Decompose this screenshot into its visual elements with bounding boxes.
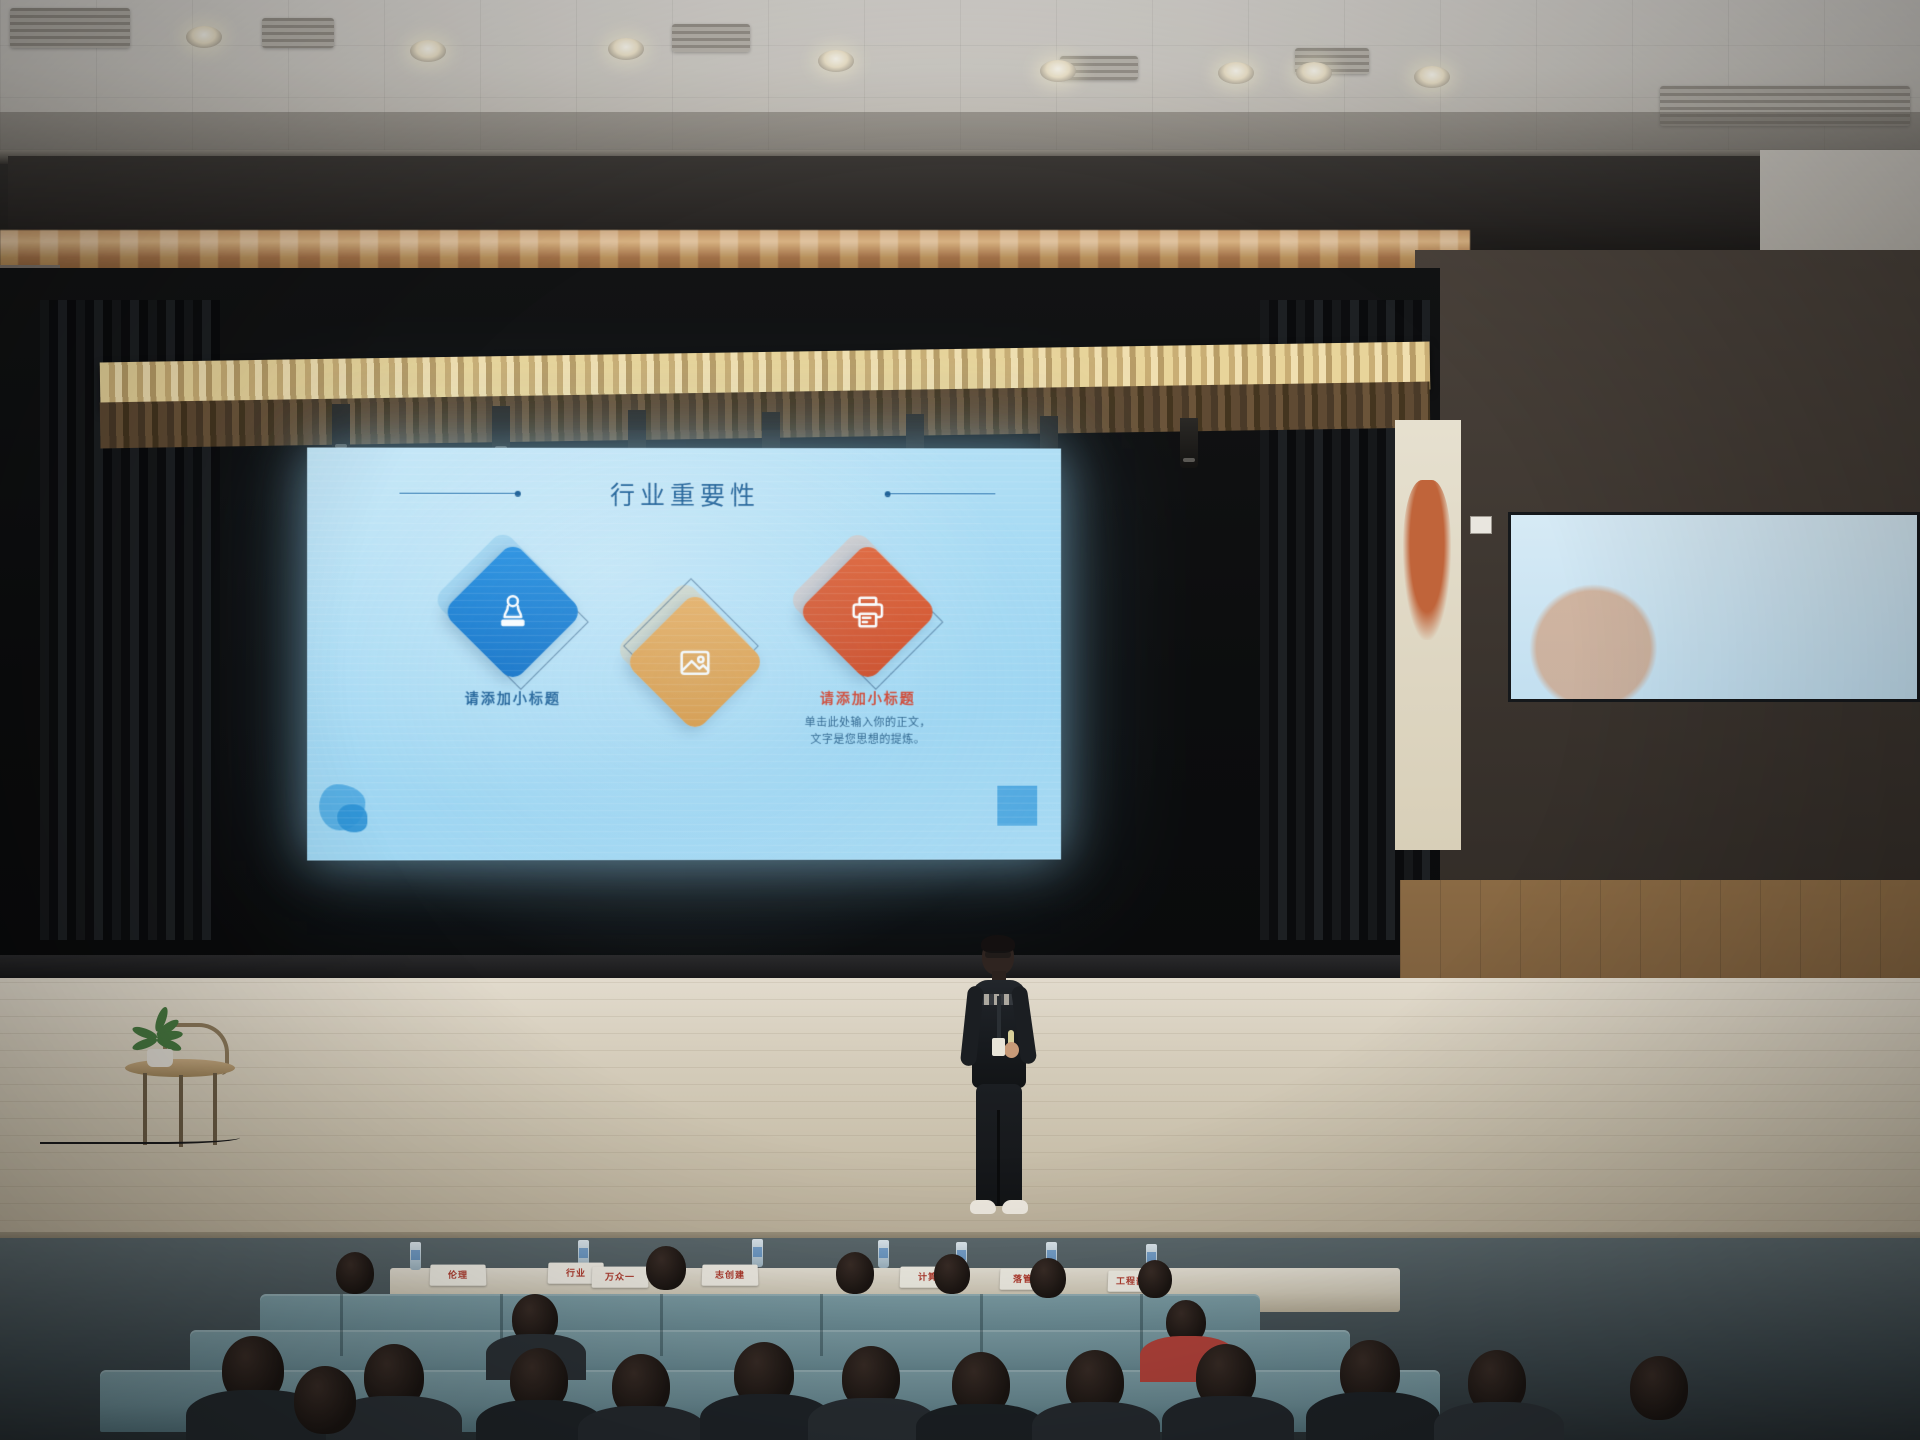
printer-icon <box>806 550 930 674</box>
ceiling-vent-3 <box>672 24 750 52</box>
audience-area: 伦理 行业 万众一 志创建 计算 落管理 工程部署 <box>0 1238 1920 1440</box>
auditorium-scene: 行业重要性 请添加小标题 <box>0 0 1920 1440</box>
image-icon <box>633 600 757 724</box>
diamond-3 <box>806 550 930 674</box>
speaker-legs <box>976 1084 1022 1206</box>
slide-cards: 请添加小标题 <box>307 544 1061 845</box>
nameplate-1: 伦理 <box>430 1265 487 1286</box>
slide-card-3-title: 请添加小标题 <box>758 688 977 708</box>
slide-card-3: 请添加小标题 单击此处输入你的正文， 文字是您思想的提炼。 <box>758 550 977 749</box>
seat-divider-1 <box>340 1294 343 1356</box>
potted-plant <box>131 1013 189 1067</box>
audience-shoulders <box>1434 1402 1564 1440</box>
seat-divider-5 <box>980 1294 983 1356</box>
downlight-6 <box>1218 62 1254 84</box>
audience-head <box>934 1254 970 1294</box>
mural-figure <box>1403 480 1451 640</box>
wall-control-panel <box>1470 516 1492 534</box>
slide-card-1: 请添加小标题 <box>418 550 608 715</box>
downlight-5 <box>1040 60 1076 82</box>
projection-screen: 行业重要性 请添加小标题 <box>307 447 1061 860</box>
slide-card-1-title: 请添加小标题 <box>418 688 608 708</box>
audience-head <box>646 1246 686 1290</box>
speaker-lanyard <box>997 996 1001 1042</box>
nameplate-4: 志创建 <box>702 1265 759 1286</box>
side-display <box>1508 512 1920 702</box>
lighting-batten-1 <box>332 404 350 454</box>
audience-head <box>836 1252 874 1294</box>
audience-shoulders <box>578 1406 706 1440</box>
nameplate-3: 万众一 <box>592 1267 649 1288</box>
speaker-shoe-right <box>1002 1200 1028 1214</box>
speaker-glasses <box>985 951 1011 958</box>
lighting-batten-7 <box>1180 418 1198 468</box>
ceiling-vent-2 <box>262 18 334 48</box>
speaker-badge <box>992 1038 1005 1056</box>
stamp-icon <box>451 550 575 674</box>
water-bottle-1 <box>410 1242 421 1270</box>
speaker-hand <box>1004 1042 1019 1058</box>
audience-shoulders <box>1032 1402 1160 1440</box>
speaker-person <box>952 938 1044 1238</box>
downlight-2 <box>410 40 446 62</box>
slide-card-3-body: 单击此处输入你的正文， 文字是您思想的提炼。 <box>758 715 977 749</box>
ceiling-vent-1 <box>10 8 130 48</box>
floor-cable <box>40 1128 240 1144</box>
audience-head <box>294 1366 356 1434</box>
water-bottle-3 <box>752 1239 763 1267</box>
speaker-shoe-left <box>970 1200 996 1214</box>
slide-title: 行业重要性 <box>307 476 1061 513</box>
diamond-1 <box>451 550 575 674</box>
downlight-1 <box>186 26 222 48</box>
downlight-4 <box>818 50 854 72</box>
audience-shoulders <box>1306 1392 1440 1440</box>
audience-head <box>1630 1356 1688 1420</box>
slide-card-3-body-line1: 单击此处输入你的正文， <box>758 715 977 732</box>
water-bottle-4 <box>878 1240 889 1268</box>
ceiling-dark-strip <box>0 112 1920 154</box>
side-display-content <box>1511 515 1920 702</box>
audience-shoulders <box>916 1404 1046 1440</box>
wall-mural <box>1395 420 1461 850</box>
seat-divider-3 <box>660 1294 663 1356</box>
audience-head <box>336 1252 374 1294</box>
audience-shoulders <box>1162 1396 1294 1440</box>
ceiling <box>0 0 1920 150</box>
audience-head <box>1138 1260 1172 1298</box>
slide-card-3-body-line2: 文字是您思想的提炼。 <box>758 732 977 749</box>
downlight-7 <box>1296 62 1332 84</box>
downlight-3 <box>608 38 644 60</box>
downlight-8 <box>1414 66 1450 88</box>
audience-head <box>1030 1258 1066 1298</box>
seat-divider-4 <box>820 1294 823 1356</box>
plant-pot <box>147 1049 173 1067</box>
diamond-2 <box>633 600 757 724</box>
